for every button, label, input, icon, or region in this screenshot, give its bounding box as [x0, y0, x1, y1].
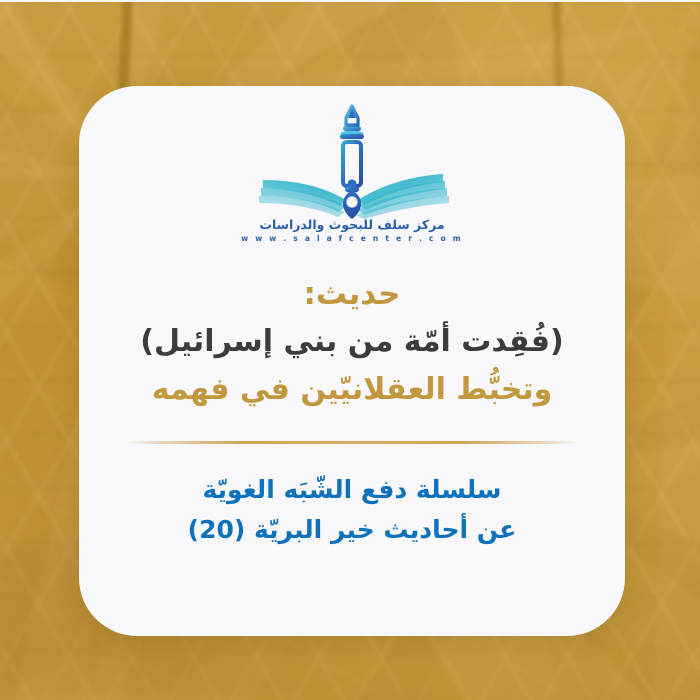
- gold-divider: [124, 441, 580, 444]
- hadith-label: حديث:: [79, 272, 625, 318]
- hadith-quote: (فُقِدت أمّة من بني إسرائيل): [79, 320, 625, 364]
- logo-arabic-name: مركز سلف للبحوث والدراسات: [259, 218, 444, 232]
- minaret-book-icon: [237, 104, 467, 222]
- series-line-1: سلسلة دفع الشّبَه الغويّة: [79, 470, 625, 510]
- logo-website: w w w . s a l a f c e n t e r . c o m: [241, 234, 463, 243]
- poster-canvas: مركز سلف للبحوث والدراسات w w w . s a l …: [0, 0, 700, 700]
- content-card: مركز سلف للبحوث والدراسات w w w . s a l …: [79, 86, 625, 636]
- background-top-strip: [0, 0, 700, 2]
- headline-block: حديث: (فُقِدت أمّة من بني إسرائيل) وتخبُ…: [79, 272, 625, 413]
- hadith-subtitle: وتخبُّط العقلانيّين في فهمه: [79, 368, 625, 412]
- series-line-2: عن أحاديث خير البريّة (20): [79, 510, 625, 550]
- series-block: سلسلة دفع الشّبَه الغويّة عن أحاديث خير …: [79, 470, 625, 550]
- logo: مركز سلف للبحوث والدراسات w w w . s a l …: [237, 104, 467, 256]
